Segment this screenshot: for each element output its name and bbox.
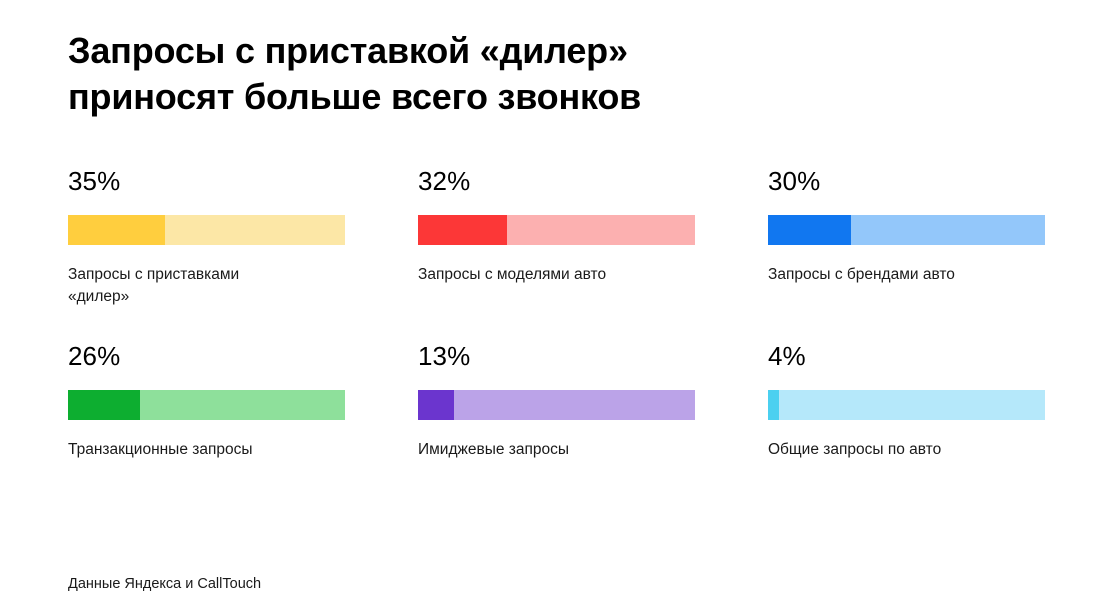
metric-card: 4% Общие запросы по авто [768,343,1045,518]
metric-value: 13% [418,343,695,369]
metric-card: 35% Запросы с приставками «дилер» [68,168,345,343]
bar-fill [768,390,779,420]
bar-track [768,390,1045,420]
metric-value: 4% [768,343,1045,369]
metric-value: 35% [68,168,345,194]
page-title: Запросы с приставкой «дилер» приносят бо… [68,28,788,120]
bar-fill [768,215,851,245]
bar-track [68,215,345,245]
metric-label: Запросы с приставками «дилер» [68,264,328,309]
metric-card: 13% Имиджевые запросы [418,343,695,518]
metric-label: Запросы с моделями авто [418,264,678,286]
bar-fill [68,215,165,245]
metric-label: Общие запросы по авто [768,439,1028,461]
bar-track [418,215,695,245]
metric-label: Транзакционные запросы [68,439,328,461]
bar-fill [68,390,140,420]
bar-track [68,390,345,420]
source-note: Данные Яндекса и CallTouch [68,575,261,594]
metric-value: 32% [418,168,695,194]
bar-track [418,390,695,420]
metric-card: 30% Запросы с брендами авто [768,168,1045,343]
metric-card: 32% Запросы с моделями авто [418,168,695,343]
metrics-grid: 35% Запросы с приставками «дилер» 32% За… [68,168,1044,518]
metric-label: Имиджевые запросы [418,439,678,461]
metric-card: 26% Транзакционные запросы [68,343,345,518]
bar-fill [418,215,507,245]
metric-label: Запросы с брендами авто [768,264,1028,286]
bar-fill [418,390,454,420]
infographic-root: Запросы с приставкой «дилер» приносят бо… [0,0,1111,614]
metric-value: 30% [768,168,1045,194]
bar-track [768,215,1045,245]
metric-value: 26% [68,343,345,369]
